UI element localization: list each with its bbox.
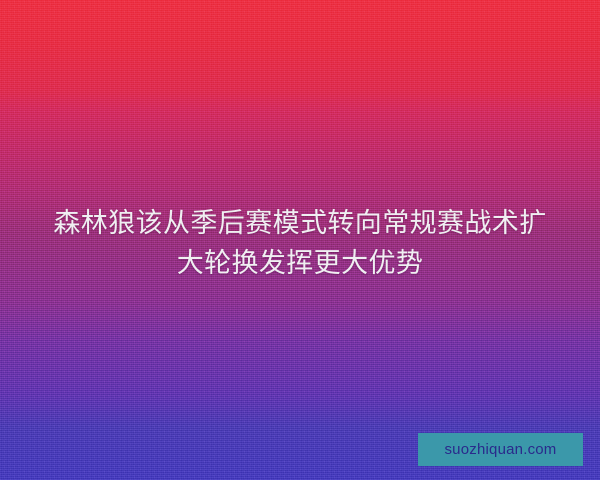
headline-text: 森林狼该从季后赛模式转向常规赛战术扩 大轮换发挥更大优势 [0, 203, 600, 283]
watermark-badge: suozhiquan.com [418, 433, 583, 466]
banner-image: 森林狼该从季后赛模式转向常规赛战术扩 大轮换发挥更大优势 suozhiquan.… [0, 0, 600, 480]
watermark-label: suozhiquan.com [444, 442, 556, 457]
